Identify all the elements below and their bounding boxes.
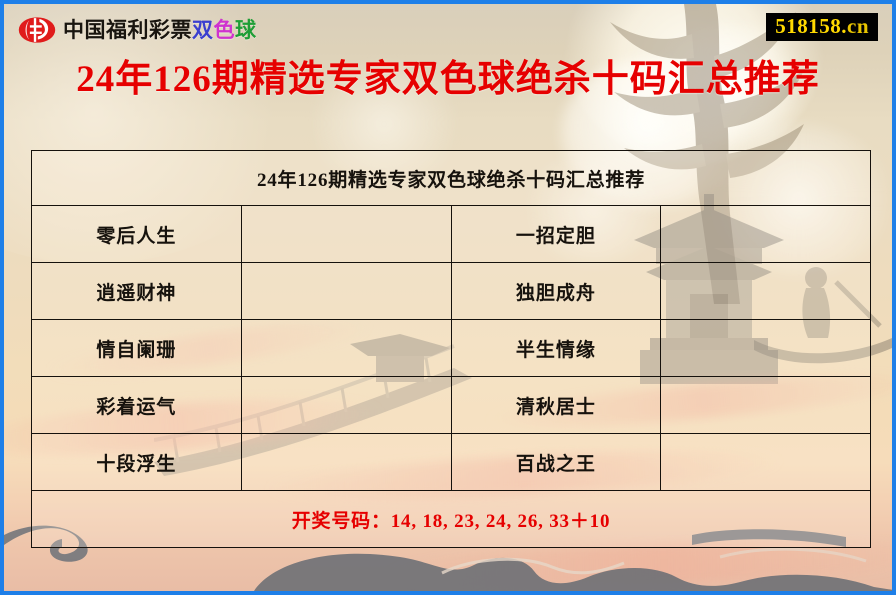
expert-pick-right [661, 206, 871, 263]
expert-name-left: 彩着运气 [32, 377, 242, 434]
expert-name-left: 逍遥财神 [32, 263, 242, 320]
table-row: 十段浮生 百战之王 [32, 434, 871, 491]
expert-pick-left [241, 377, 451, 434]
expert-name-right: 百战之王 [451, 434, 661, 491]
lottery-poster: 中国福利彩票 双 色 球 518158.cn 24年126期精选专家双色球绝杀十… [0, 0, 896, 595]
site-url-tld: cn [847, 14, 869, 38]
table-row: 逍遥财神 独胆成舟 [32, 263, 871, 320]
expert-pick-left [241, 206, 451, 263]
expert-name-left: 十段浮生 [32, 434, 242, 491]
expert-pick-left [241, 320, 451, 377]
brand-ball-char-2: 色 [214, 20, 236, 41]
table-caption: 24年126期精选专家双色球绝杀十码汇总推荐 [32, 151, 871, 206]
recommendation-table-wrap: 24年126期精选专家双色球绝杀十码汇总推荐 零后人生 一招定胆 逍遥财神 独胆… [31, 150, 871, 548]
expert-name-right: 半生情缘 [451, 320, 661, 377]
expert-name-left: 情自阑珊 [32, 320, 242, 377]
expert-pick-right [661, 263, 871, 320]
brand-logo: 中国福利彩票 双 色 球 [18, 14, 257, 46]
site-url-number: 518158. [775, 14, 847, 38]
table-row: 零后人生 一招定胆 [32, 206, 871, 263]
page-title: 24年126期精选专家双色球绝杀十码汇总推荐 [4, 60, 892, 101]
brand-ball-char-1: 双 [192, 20, 214, 41]
expert-pick-right [661, 434, 871, 491]
winning-numbers: 开奖号码：14, 18, 23, 24, 26, 33＋10 [32, 491, 871, 548]
brand-wordmark: 中国福利彩票 双 色 球 [63, 20, 257, 41]
poster-header: 中国福利彩票 双 色 球 518158.cn [4, 4, 892, 58]
table-row: 情自阑珊 半生情缘 [32, 320, 871, 377]
expert-name-left: 零后人生 [32, 206, 242, 263]
expert-name-right: 一招定胆 [451, 206, 661, 263]
china-welfare-lottery-emblem-icon [18, 14, 56, 46]
recommendation-table: 24年126期精选专家双色球绝杀十码汇总推荐 零后人生 一招定胆 逍遥财神 独胆… [31, 150, 871, 548]
table-caption-row: 24年126期精选专家双色球绝杀十码汇总推荐 [32, 151, 871, 206]
expert-pick-left [241, 263, 451, 320]
table-body: 24年126期精选专家双色球绝杀十码汇总推荐 零后人生 一招定胆 逍遥财神 独胆… [32, 151, 871, 548]
site-url-badge[interactable]: 518158.cn [766, 13, 878, 41]
brand-ball-char-3: 球 [235, 20, 257, 41]
expert-name-right: 独胆成舟 [451, 263, 661, 320]
expert-pick-right [661, 320, 871, 377]
brand-name-cn: 中国福利彩票 [63, 20, 192, 41]
table-footer-row: 开奖号码：14, 18, 23, 24, 26, 33＋10 [32, 491, 871, 548]
expert-name-right: 清秋居士 [451, 377, 661, 434]
expert-pick-left [241, 434, 451, 491]
table-row: 彩着运气 清秋居士 [32, 377, 871, 434]
expert-pick-right [661, 377, 871, 434]
